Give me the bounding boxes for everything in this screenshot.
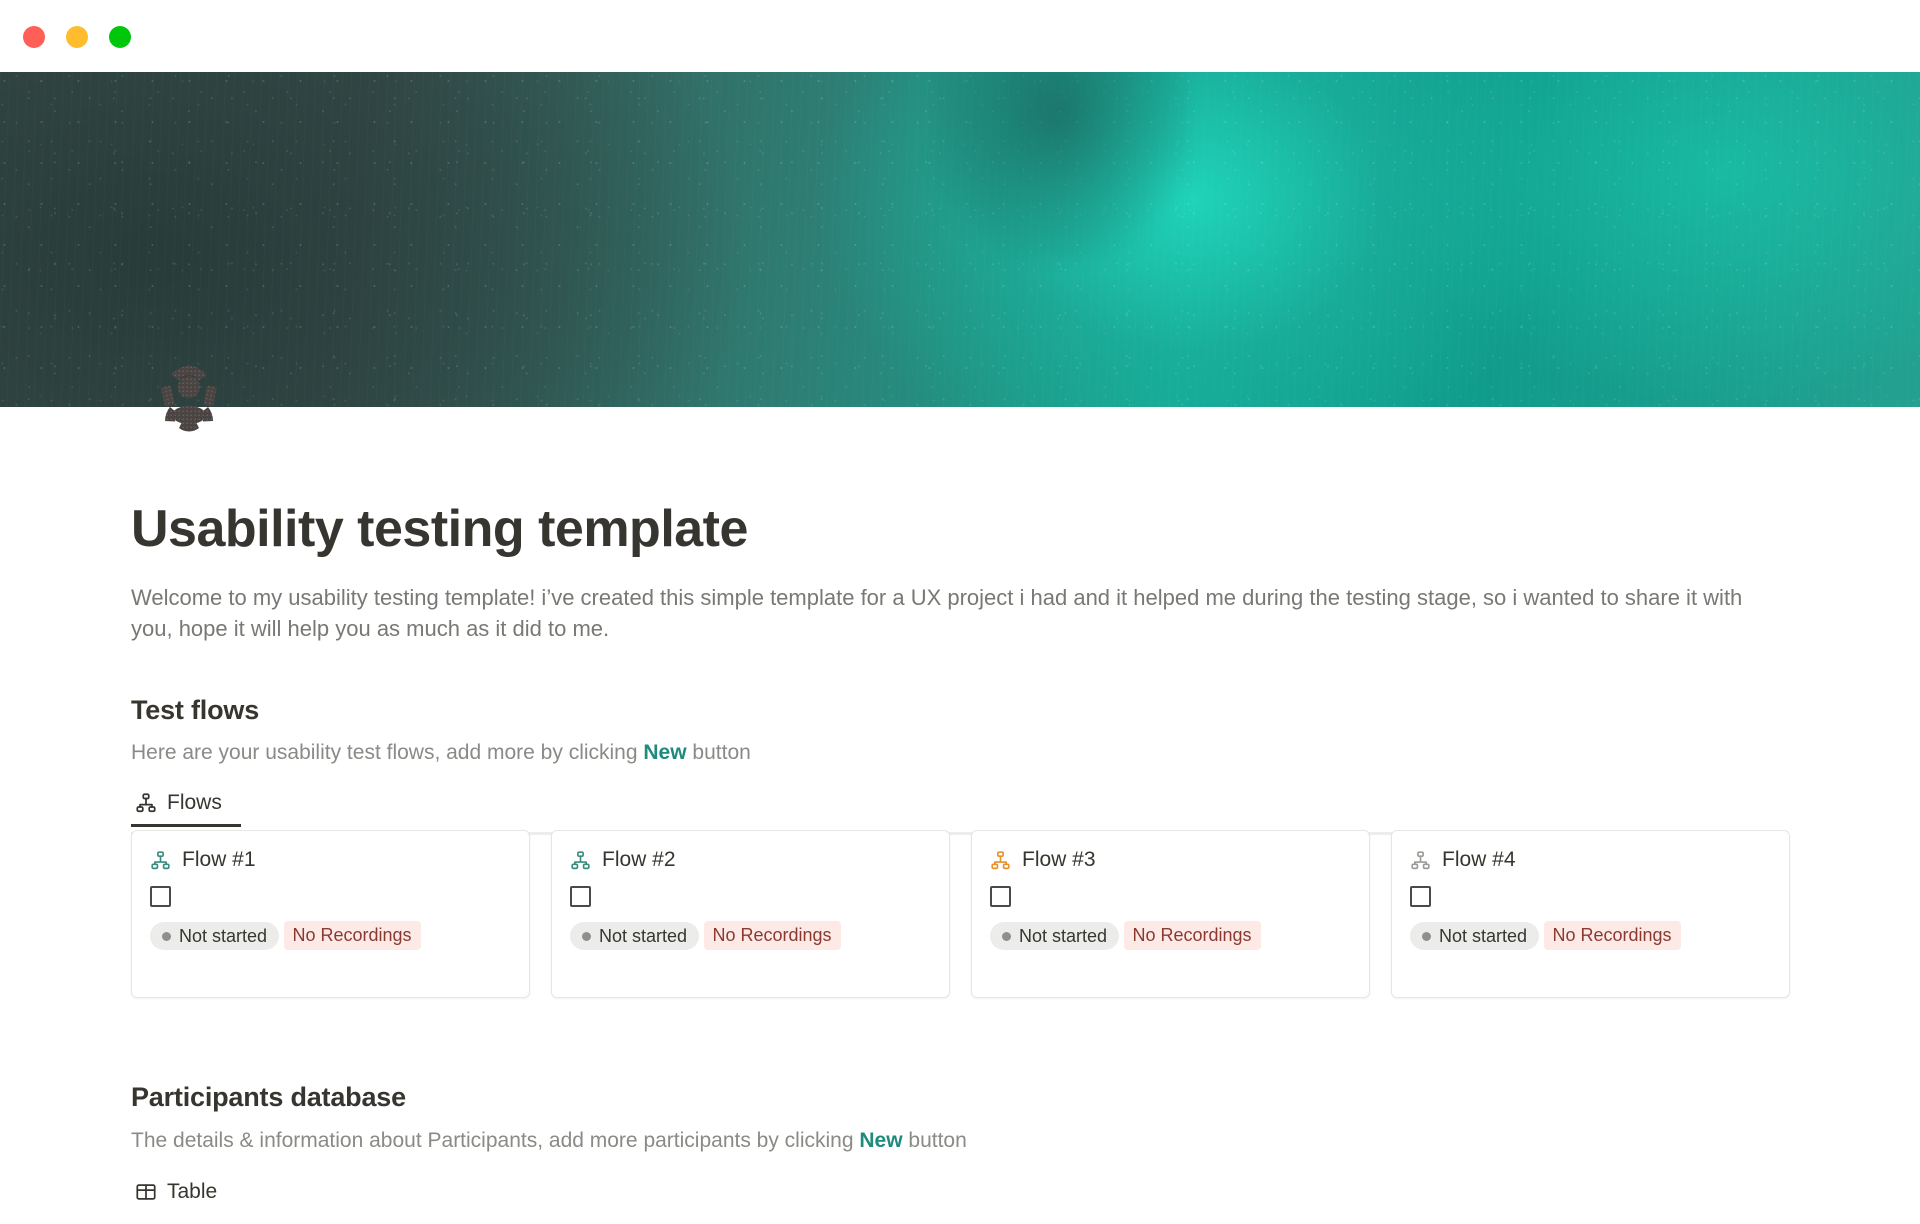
section-heading-participants: Participants database: [131, 1082, 406, 1113]
status-badge[interactable]: Not started: [570, 922, 699, 950]
flow-card-title: Flow #1: [182, 848, 256, 872]
flow-card-title-row: Flow #1: [150, 848, 511, 872]
recordings-tag[interactable]: No Recordings: [284, 921, 421, 950]
maximize-window-button[interactable]: [109, 26, 131, 48]
page-title: Usability testing template: [131, 499, 748, 559]
flows-tabbar: Flows: [131, 791, 1786, 835]
flow-card-title-row: Flow #2: [570, 848, 931, 872]
tab-flows[interactable]: Flows: [131, 791, 228, 827]
hierarchy-icon: [135, 792, 157, 814]
status-badge-label: Not started: [1019, 926, 1107, 947]
participants-tabbar: Table: [131, 1180, 1786, 1224]
subtitle-text-before: The details & information about Particip…: [131, 1129, 859, 1152]
flow-card-checkbox[interactable]: [990, 886, 1011, 907]
recordings-tag[interactable]: No Recordings: [1124, 921, 1261, 950]
flow-card[interactable]: Flow #1 Not started No Recordings: [131, 830, 530, 998]
flow-card[interactable]: Flow #2 Not started No Recordings: [551, 830, 950, 998]
flow-card-title: Flow #2: [602, 848, 676, 872]
flow-cards-row: Flow #1 Not started No Recordings Flow #…: [131, 830, 1790, 998]
section-subtitle-participants: The details & information about Particip…: [131, 1129, 967, 1153]
status-badge-label: Not started: [599, 926, 687, 947]
new-button-link-participants[interactable]: New: [859, 1129, 902, 1152]
status-dot-icon: [1002, 932, 1011, 941]
recordings-tag[interactable]: No Recordings: [1544, 921, 1681, 950]
flow-card-title-row: Flow #3: [990, 848, 1351, 872]
new-button-link-flows[interactable]: New: [643, 741, 686, 764]
tab-flows-label: Flows: [167, 791, 222, 815]
section-heading-test-flows: Test flows: [131, 695, 259, 726]
flow-card-title: Flow #3: [1022, 848, 1096, 872]
flow-card-checkbox[interactable]: [1410, 886, 1431, 907]
minimize-window-button[interactable]: [66, 26, 88, 48]
traffic-lights: [23, 26, 131, 48]
cover-smudge: [930, 72, 1190, 262]
flow-card-checkbox[interactable]: [570, 886, 591, 907]
subtitle-text-before: Here are your usability test flows, add …: [131, 741, 643, 764]
eye-radial-icon[interactable]: [146, 358, 232, 444]
status-badge-label: Not started: [1439, 926, 1527, 947]
flow-card-title: Flow #4: [1442, 848, 1516, 872]
tab-table-label: Table: [167, 1180, 217, 1204]
flow-card[interactable]: Flow #3 Not started No Recordings: [971, 830, 1370, 998]
close-window-button[interactable]: [23, 26, 45, 48]
status-badge[interactable]: Not started: [1410, 922, 1539, 950]
cover-image[interactable]: [0, 72, 1920, 407]
status-badge[interactable]: Not started: [150, 922, 279, 950]
page-description: Welcome to my usability testing template…: [131, 582, 1771, 644]
subtitle-text-after: button: [687, 741, 751, 764]
section-subtitle-test-flows: Here are your usability test flows, add …: [131, 741, 751, 765]
tab-flows-active-underline: [131, 824, 241, 827]
status-dot-icon: [162, 932, 171, 941]
flow-card-checkbox[interactable]: [150, 886, 171, 907]
hierarchy-icon: [1410, 850, 1431, 871]
flow-card[interactable]: Flow #4 Not started No Recordings: [1391, 830, 1790, 998]
recordings-tag[interactable]: No Recordings: [704, 921, 841, 950]
flow-card-title-row: Flow #4: [1410, 848, 1771, 872]
tab-table[interactable]: Table: [131, 1180, 223, 1216]
status-dot-icon: [582, 932, 591, 941]
hierarchy-icon: [990, 850, 1011, 871]
hierarchy-icon: [570, 850, 591, 871]
subtitle-text-after: button: [903, 1129, 967, 1152]
status-dot-icon: [1422, 932, 1431, 941]
status-badge[interactable]: Not started: [990, 922, 1119, 950]
hierarchy-icon: [150, 850, 171, 871]
status-badge-label: Not started: [179, 926, 267, 947]
window-titlebar: [0, 0, 1920, 72]
